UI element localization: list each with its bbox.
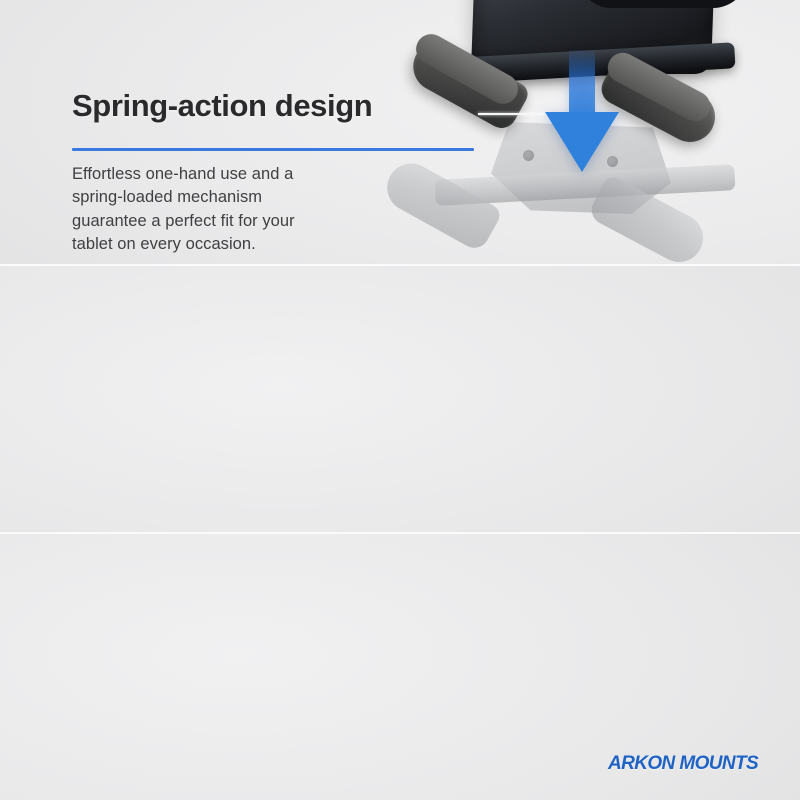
body-line: guarantee a perfect fit for your <box>72 210 492 233</box>
accent-rule <box>72 148 474 151</box>
screw-hole-icon <box>523 150 534 161</box>
infographic-sheet: Spring-action design Effortless one-hand… <box>0 0 800 800</box>
panel-body-copy: Effortless one-hand use and a spring-loa… <box>72 163 492 257</box>
panel-heading: Spring-action design <box>72 90 492 122</box>
arrow-head <box>545 112 619 172</box>
panel-divider <box>0 264 800 266</box>
down-arrow-icon <box>545 50 619 172</box>
panel-divider <box>0 532 800 534</box>
panel-grip-enhance-grooves: Grip-enhance grooves Designed to accommo… <box>0 266 800 533</box>
body-line: Effortless one-hand use and a <box>72 163 492 186</box>
panel-spring-action: Spring-action design Effortless one-hand… <box>0 0 800 265</box>
body-line: tablet on every occasion. <box>72 233 492 256</box>
brand-logo: ARKON MOUNTS <box>608 753 758 775</box>
text-block-spring-action: Spring-action design Effortless one-hand… <box>72 64 492 256</box>
leader-line <box>478 113 544 115</box>
holder-body-recess <box>577 0 749 8</box>
body-line: spring-loaded mechanism <box>72 186 492 209</box>
